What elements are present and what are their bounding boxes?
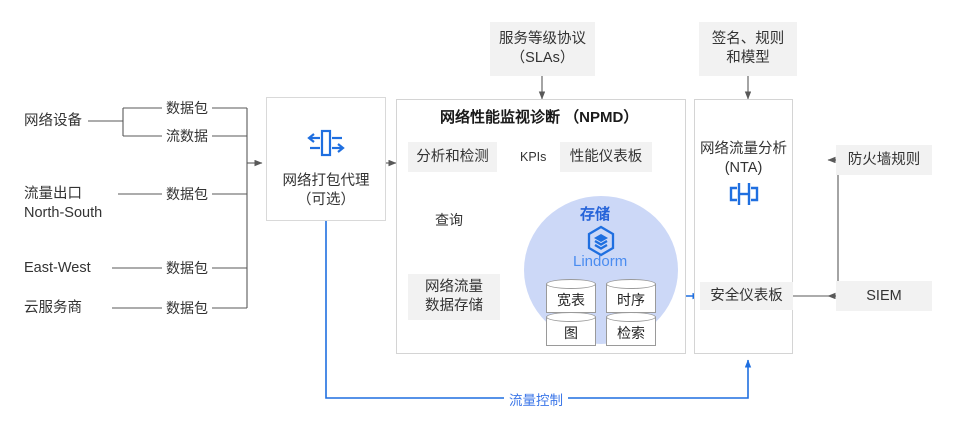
traffic-datastore-box[interactable]: 网络流量 数据存储: [408, 274, 500, 320]
packet-broker-label: 网络打包代理 （可选）: [283, 172, 370, 210]
npmd-title: 网络性能监视诊断 （NPMD）: [440, 106, 638, 127]
capability-graph-label: 图: [546, 321, 596, 345]
output-siem[interactable]: SIEM: [836, 281, 932, 311]
capability-timeseries-label: 时序: [606, 288, 656, 312]
lindorm-label: Lindorm: [573, 253, 627, 270]
nta-panel: [694, 99, 793, 354]
capability-search-label: 检索: [606, 321, 656, 345]
nta-label: 网络流量分析 (NTA): [694, 140, 793, 178]
capability-timeseries[interactable]: 时序: [606, 279, 656, 313]
analysis-detection-box[interactable]: 分析和检测: [408, 142, 497, 172]
link-label-packets-1: 数据包: [162, 99, 212, 117]
capability-wide-table-label: 宽表: [546, 288, 596, 312]
signatures-box: 签名、规则 和模型: [699, 22, 797, 76]
link-label-packets-3: 数据包: [162, 259, 212, 277]
source-network-device: 网络设备: [24, 112, 82, 131]
link-label-packets-2: 数据包: [162, 185, 212, 203]
storage-title: 存储: [580, 203, 610, 224]
source-traffic-egress: 流量出口 North-South: [24, 185, 102, 223]
packet-broker-box[interactable]: 网络打包代理 （可选）: [266, 97, 386, 221]
source-east-west: East-West: [24, 259, 91, 278]
slas-box: 服务等级协议 （SLAs）: [490, 22, 595, 76]
query-label: 查询: [431, 211, 467, 229]
capability-search[interactable]: 检索: [606, 312, 656, 346]
capability-wide-table[interactable]: 宽表: [546, 279, 596, 313]
performance-dashboard-box[interactable]: 性能仪表板: [560, 142, 652, 172]
kpis-label: KPIs: [516, 148, 550, 166]
flow-control-label: 流量控制: [504, 389, 568, 409]
source-cloud-provider: 云服务商: [24, 299, 82, 318]
output-firewall-rules[interactable]: 防火墙规则: [836, 145, 932, 175]
link-label-flowdata: 流数据: [162, 127, 212, 145]
security-dashboard-box[interactable]: 安全仪表板: [700, 282, 793, 310]
nta-icon: [728, 180, 760, 213]
link-label-packets-4: 数据包: [162, 299, 212, 317]
capability-graph[interactable]: 图: [546, 312, 596, 346]
architecture-diagram: 网络设备 流量出口 North-South East-West 云服务商 数据包…: [0, 0, 956, 437]
packet-broker-icon: [307, 109, 345, 164]
